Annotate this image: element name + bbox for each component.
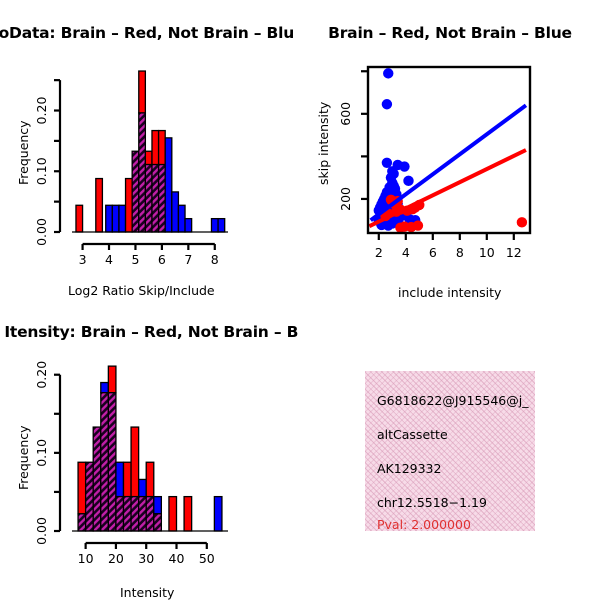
y-tick-label: 0.20: [34, 97, 49, 125]
histogram-bar-overlap: [131, 497, 139, 531]
histogram-bar: [76, 205, 83, 232]
histogram-bar: [119, 205, 126, 232]
intensity-histogram-ylabel: Frequency: [16, 425, 31, 490]
histogram-bar: [145, 151, 152, 164]
scatter-point: [517, 217, 527, 227]
histogram-bar: [214, 497, 222, 531]
annotation-line-accession: AK129332: [377, 461, 441, 476]
y-tick-label: 0.20: [34, 361, 49, 389]
histogram-bar: [131, 427, 139, 497]
annotation-panel: G6818622@J915546@j_ altCassette AK129332…: [365, 371, 535, 531]
y-tick-label: 0.00: [34, 517, 49, 545]
histogram-bar-overlap: [152, 165, 159, 232]
scatter-point: [382, 99, 392, 109]
histogram-bar: [169, 497, 177, 531]
figure-canvas: atioData: Brain – Red, Not Brain – Blu 0…: [0, 0, 600, 600]
histogram-bar-overlap: [154, 514, 162, 531]
histogram-bar: [211, 219, 218, 232]
x-tick-label: 5: [131, 252, 139, 267]
intensity-histogram-plot: 0.000.100.201020304050: [0, 305, 300, 600]
histogram-bar-overlap: [146, 497, 154, 531]
annotation-line-locus: chr12.5518−1.19: [377, 495, 487, 510]
histogram-bars: [78, 366, 222, 531]
histogram-bar: [126, 179, 133, 232]
panel-intensity-histogram: ne Itensity: Brain – Red, Not Brain – B …: [0, 305, 300, 600]
y-tick-label: 0.10: [34, 439, 49, 467]
histogram-bar: [154, 497, 162, 514]
histogram-bar: [112, 205, 119, 232]
histogram-bar: [96, 179, 103, 232]
scatter-point: [395, 222, 405, 232]
scatter-ylabel: skip intensity: [316, 102, 331, 185]
histogram-bar: [178, 205, 185, 232]
histogram-bar-overlap: [93, 427, 101, 531]
histogram-bar: [108, 366, 116, 393]
annotation-line-pval: Pval: 2.000000: [377, 517, 471, 532]
histogram-bar-overlap: [139, 113, 146, 232]
annotation-line-id: G6818622@J915546@j_: [377, 393, 528, 408]
ratio-histogram-plot: 0.000.100.20345678: [0, 0, 300, 305]
histogram-bar-overlap: [123, 497, 131, 531]
y-tick-label: 200: [338, 187, 353, 211]
y-tick-label: 600: [338, 102, 353, 126]
histogram-bar-overlap: [101, 393, 109, 531]
histogram-bar-overlap: [108, 393, 116, 531]
x-tick-label: 3: [79, 252, 87, 267]
histogram-bars: [76, 71, 225, 232]
y-tick-label: 0.10: [34, 157, 49, 185]
histogram-bar: [185, 219, 192, 232]
x-tick-label: 6: [158, 252, 166, 267]
x-tick-label: 20: [108, 551, 124, 566]
x-tick-label: 50: [199, 551, 215, 566]
x-tick-label: 10: [479, 245, 495, 260]
histogram-bar: [116, 462, 124, 496]
ratio-histogram-ylabel: Frequency: [16, 120, 31, 185]
x-tick-label: 10: [78, 551, 94, 566]
scatter-point: [383, 220, 393, 230]
histogram-bar-overlap: [145, 165, 152, 232]
x-tick-label: 40: [169, 551, 185, 566]
histogram-bar: [106, 205, 113, 232]
histogram-bar-overlap: [116, 497, 124, 531]
histogram-bar: [146, 462, 154, 496]
scatter-point: [399, 161, 409, 171]
histogram-bar: [159, 131, 166, 165]
histogram-bar: [139, 479, 147, 496]
histogram-bar: [78, 462, 86, 514]
y-tick-label: 0.00: [34, 218, 49, 246]
x-tick-label: 8: [456, 245, 464, 260]
panel-ratio-histogram: atioData: Brain – Red, Not Brain – Blu 0…: [0, 0, 300, 305]
histogram-bar: [139, 71, 146, 113]
scatter-content: [369, 68, 527, 233]
histogram-bar: [172, 192, 179, 232]
x-tick-label: 30: [138, 551, 154, 566]
histogram-bar-overlap: [78, 514, 86, 531]
histogram-bar: [101, 383, 109, 393]
ratio-histogram-xlabel: Log2 Ratio Skip/Include: [68, 283, 215, 298]
panel-intensity-scatter: Brain – Red, Not Brain – Blue 2006002468…: [300, 0, 600, 305]
x-tick-label: 4: [105, 252, 113, 267]
scatter-point: [383, 68, 393, 78]
scatter-plot: 20060024681012: [300, 0, 600, 305]
histogram-bar-overlap: [132, 151, 139, 232]
x-tick-label: 7: [184, 252, 192, 267]
intensity-histogram-xlabel: Intensity: [120, 585, 174, 600]
x-tick-label: 8: [211, 252, 219, 267]
histogram-bar: [165, 138, 172, 232]
x-tick-label: 12: [506, 245, 522, 260]
histogram-bar: [123, 462, 131, 496]
x-tick-label: 4: [402, 245, 410, 260]
histogram-bar-overlap: [159, 165, 166, 232]
histogram-bar: [184, 497, 192, 531]
histogram-bar-overlap: [86, 462, 94, 531]
annotation-line-event-type: altCassette: [377, 427, 448, 442]
histogram-bar-overlap: [139, 497, 147, 531]
scatter-xlabel: include intensity: [398, 285, 501, 300]
x-tick-label: 2: [375, 245, 383, 260]
scatter-point: [413, 220, 423, 230]
histogram-bar: [218, 219, 225, 232]
scatter-point: [403, 176, 413, 186]
histogram-bar: [152, 131, 159, 165]
x-tick-label: 6: [429, 245, 437, 260]
